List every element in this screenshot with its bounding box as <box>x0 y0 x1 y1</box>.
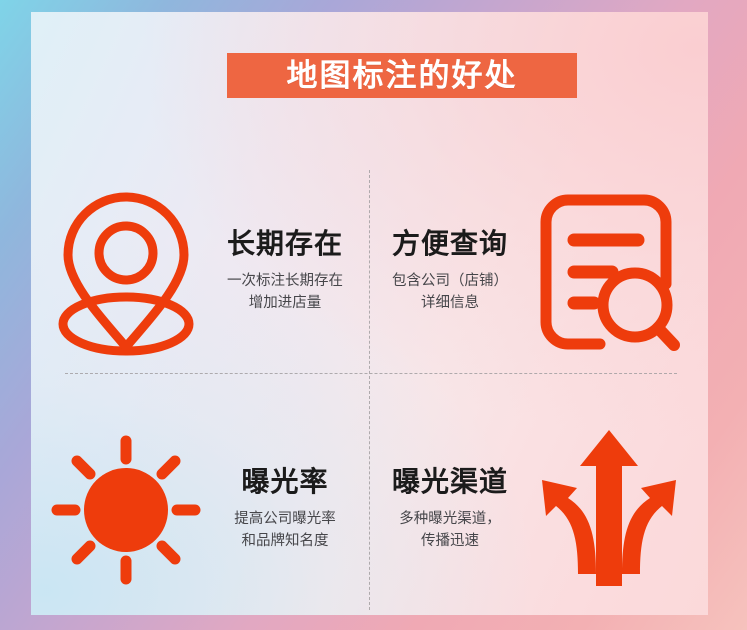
feature-subtitle-line: 包含公司（店铺） <box>392 270 508 292</box>
document-search-icon <box>529 182 689 362</box>
feature-subtitle: 多种曝光渠道， 传播迅速 <box>399 508 501 553</box>
feature-subtitle-line: 提高公司曝光率 <box>234 508 336 530</box>
feature-exposure-rate: 曝光率 提高公司曝光率 和品牌知名度 <box>51 410 369 610</box>
feature-subtitle: 包含公司（店铺） 详细信息 <box>392 270 508 315</box>
feature-text-block: 曝光率 提高公司曝光率 和品牌知名度 <box>201 467 369 553</box>
feature-heading: 方便查询 <box>392 229 508 260</box>
sun-icon <box>51 420 201 600</box>
feature-heading: 长期存在 <box>227 229 343 260</box>
feature-subtitle-line: 增加进店量 <box>227 292 343 314</box>
feature-subtitle-line: 和品牌知名度 <box>234 530 336 552</box>
feature-subtitle: 提高公司曝光率 和品牌知名度 <box>234 508 336 553</box>
feature-easy-lookup: 方便查询 包含公司（店铺） 详细信息 <box>371 172 689 372</box>
feature-long-term-presence: 长期存在 一次标注长期存在 增加进店量 <box>51 172 369 372</box>
feature-text-block: 曝光渠道 多种曝光渠道， 传播迅速 <box>371 467 529 553</box>
infographic-card: 地图标注的好处 长期存在 一次标注长期存在 增加进店量 <box>31 12 708 615</box>
feature-text-block: 长期存在 一次标注长期存在 增加进店量 <box>201 229 369 315</box>
feature-text-block: 方便查询 包含公司（店铺） 详细信息 <box>371 229 529 315</box>
title-banner: 地图标注的好处 <box>227 53 577 98</box>
map-pin-icon <box>51 182 201 362</box>
feature-heading: 曝光渠道 <box>392 467 508 498</box>
feature-subtitle-line: 详细信息 <box>392 292 508 314</box>
page-title: 地图标注的好处 <box>287 60 518 91</box>
feature-subtitle-line: 传播迅速 <box>399 530 501 552</box>
feature-subtitle-line: 多种曝光渠道， <box>399 508 501 530</box>
feature-subtitle: 一次标注长期存在 增加进店量 <box>227 270 343 315</box>
infographic-stage: 地图标注的好处 长期存在 一次标注长期存在 增加进店量 <box>0 0 747 630</box>
divider-horizontal <box>65 373 677 374</box>
feature-exposure-channels: 曝光渠道 多种曝光渠道， 传播迅速 <box>371 410 689 610</box>
feature-subtitle-line: 一次标注长期存在 <box>227 270 343 292</box>
feature-heading: 曝光率 <box>241 467 328 498</box>
branching-arrows-icon <box>529 418 689 603</box>
divider-vertical <box>369 170 370 610</box>
